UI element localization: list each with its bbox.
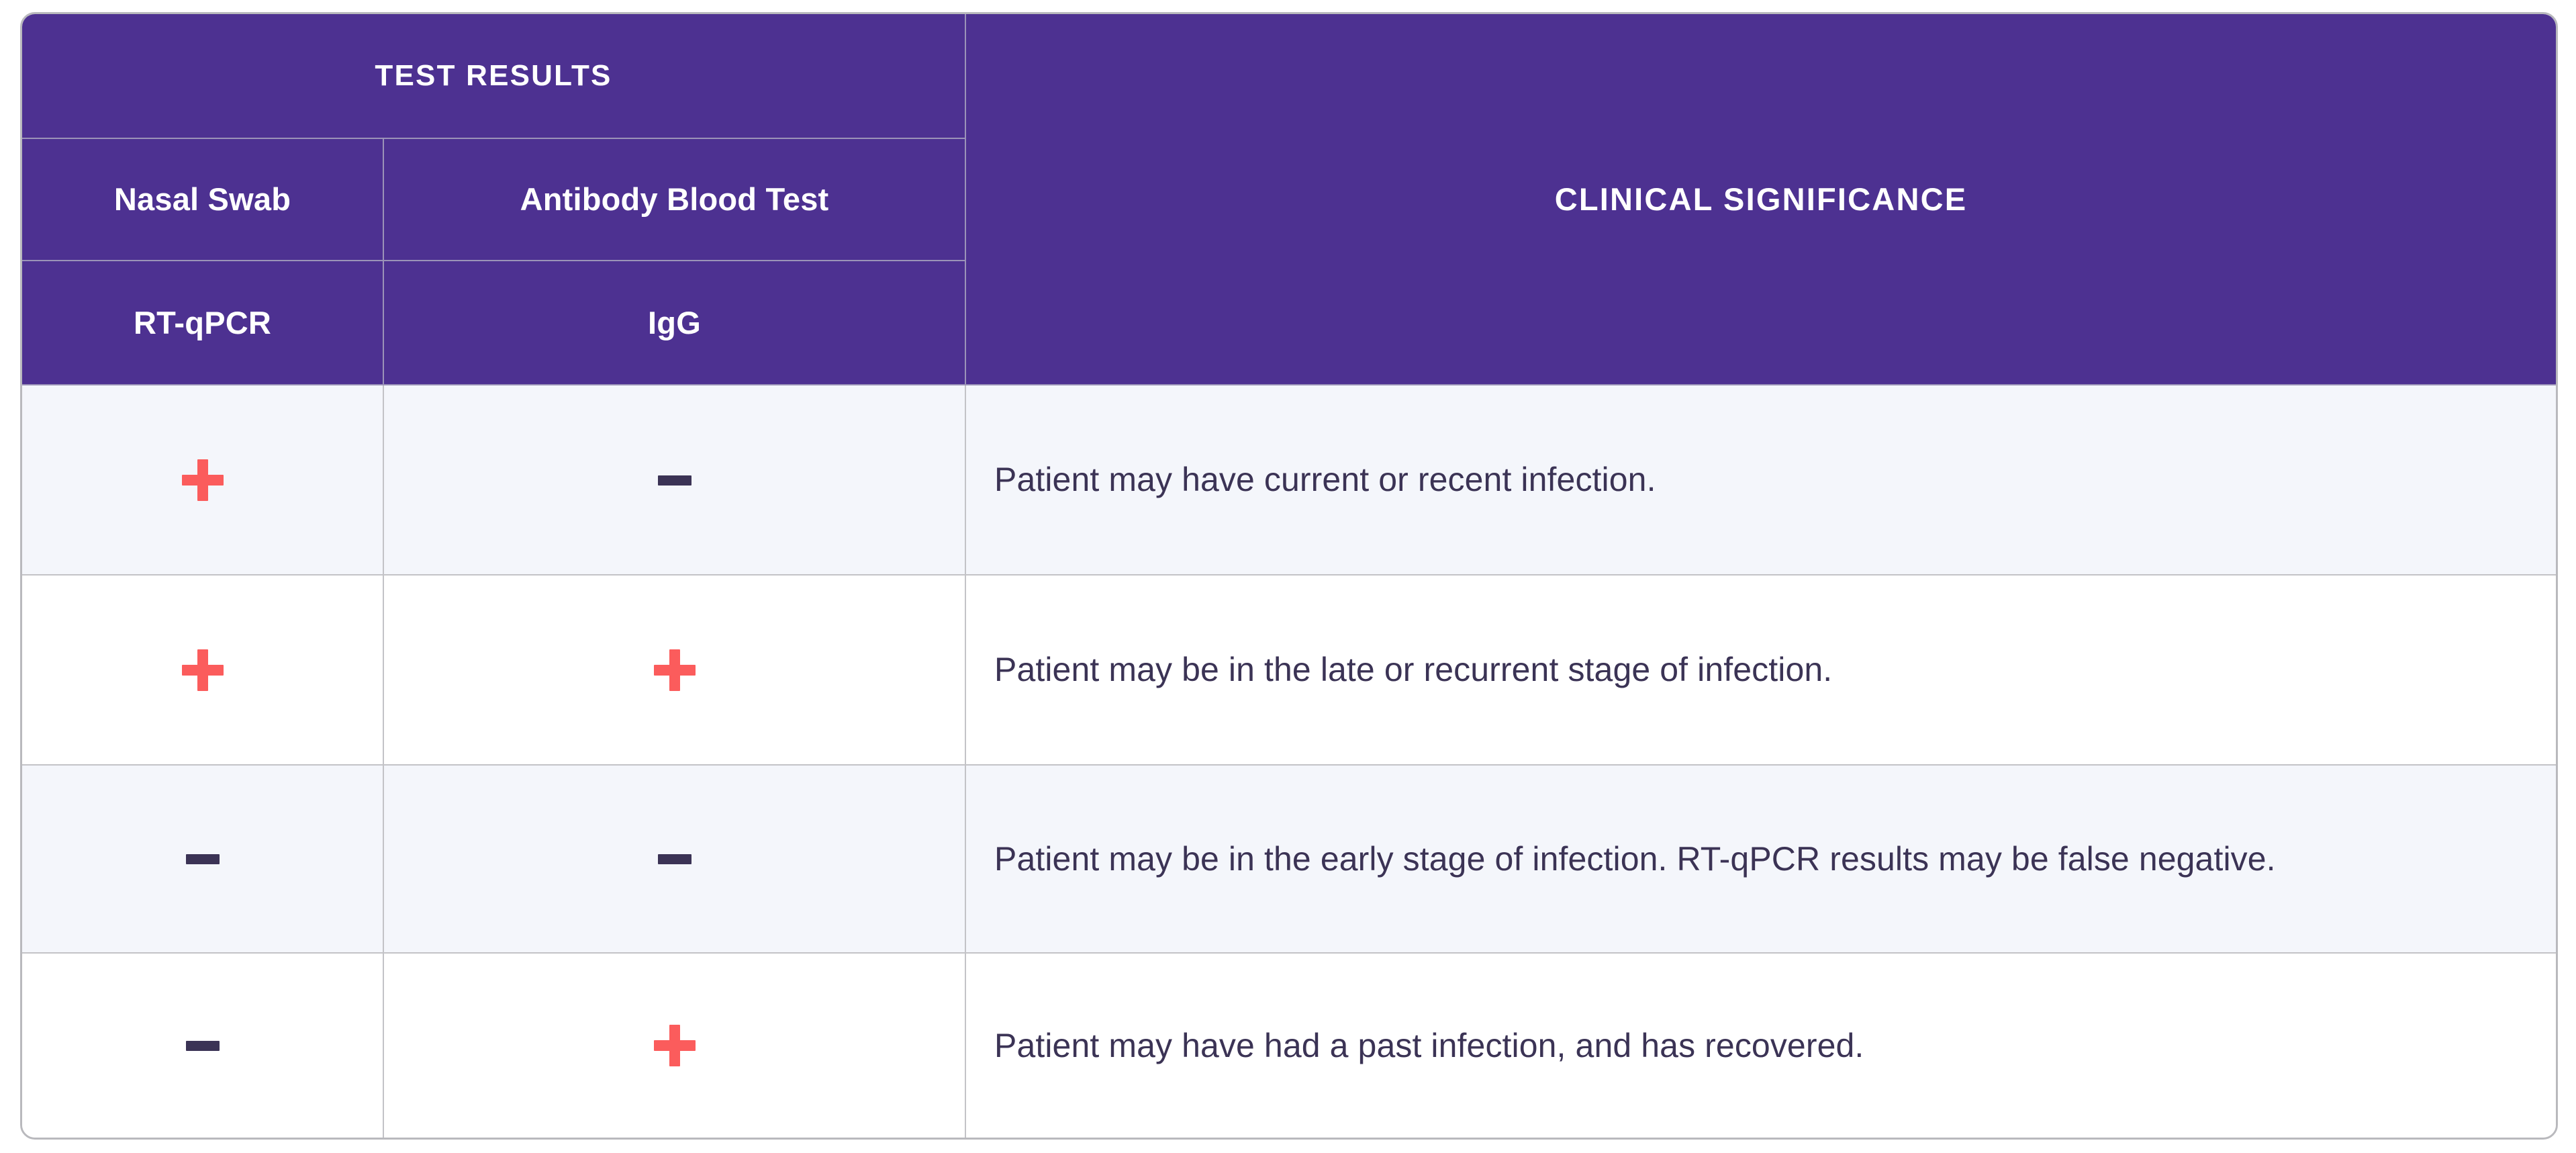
- table-row: Patient may be in the late or recurrent …: [22, 575, 2556, 765]
- cell-clinical-significance: Patient may be in the early stage of inf…: [965, 765, 2556, 953]
- cell-rt-qpcr-result: [22, 953, 383, 1138]
- test-results-table-card: TEST RESULTS CLINICAL SIGNIFICANCE Nasal…: [20, 12, 2558, 1140]
- cell-rt-qpcr-result: [22, 385, 383, 575]
- header-clinical-significance: CLINICAL SIGNIFICANCE: [965, 14, 2556, 385]
- page-root: TEST RESULTS CLINICAL SIGNIFICANCE Nasal…: [0, 0, 2576, 1153]
- clinical-significance-text: Patient may be in the early stage of inf…: [994, 837, 2556, 882]
- table-body: Patient may have current or recent infec…: [22, 385, 2556, 1138]
- header-nasal-swab: Nasal Swab: [22, 138, 383, 261]
- header-rt-qpcr: RT-qPCR: [22, 261, 383, 385]
- plus-icon: [654, 649, 696, 691]
- clinical-significance-text: Patient may be in the late or recurrent …: [994, 647, 2556, 692]
- plus-icon: [182, 649, 224, 691]
- header-igg-label: IgG: [648, 305, 701, 340]
- cell-clinical-significance: Patient may have current or recent infec…: [965, 385, 2556, 575]
- clinical-significance-text: Patient may have had a past infection, a…: [994, 1023, 2556, 1068]
- cell-igg-result: [383, 385, 965, 575]
- table-row: Patient may have current or recent infec…: [22, 385, 2556, 575]
- table-row: Patient may have had a past infection, a…: [22, 953, 2556, 1138]
- header-antibody-blood-test: Antibody Blood Test: [383, 138, 965, 261]
- table-header: TEST RESULTS CLINICAL SIGNIFICANCE Nasal…: [22, 14, 2556, 385]
- header-nasal-swab-label: Nasal Swab: [114, 181, 291, 217]
- minus-icon: [182, 1025, 224, 1066]
- table-row: Patient may be in the early stage of inf…: [22, 765, 2556, 953]
- cell-clinical-significance: Patient may be in the late or recurrent …: [965, 575, 2556, 765]
- clinical-significance-text: Patient may have current or recent infec…: [994, 457, 2556, 502]
- header-igg: IgG: [383, 261, 965, 385]
- minus-icon: [654, 459, 696, 501]
- minus-icon: [182, 838, 224, 880]
- header-test-results-label: TEST RESULTS: [375, 59, 612, 92]
- header-rt-qpcr-label: RT-qPCR: [134, 305, 271, 340]
- plus-icon: [182, 459, 224, 501]
- header-test-results-group: TEST RESULTS: [22, 14, 965, 138]
- cell-igg-result: [383, 953, 965, 1138]
- header-row-group: TEST RESULTS CLINICAL SIGNIFICANCE: [22, 14, 2556, 138]
- cell-igg-result: [383, 765, 965, 953]
- cell-rt-qpcr-result: [22, 575, 383, 765]
- plus-icon: [654, 1025, 696, 1066]
- header-clinical-significance-label: CLINICAL SIGNIFICANCE: [1555, 181, 1968, 217]
- header-antibody-blood-test-label: Antibody Blood Test: [520, 181, 829, 217]
- test-results-table: TEST RESULTS CLINICAL SIGNIFICANCE Nasal…: [22, 14, 2556, 1138]
- cell-rt-qpcr-result: [22, 765, 383, 953]
- cell-igg-result: [383, 575, 965, 765]
- minus-icon: [654, 838, 696, 880]
- cell-clinical-significance: Patient may have had a past infection, a…: [965, 953, 2556, 1138]
